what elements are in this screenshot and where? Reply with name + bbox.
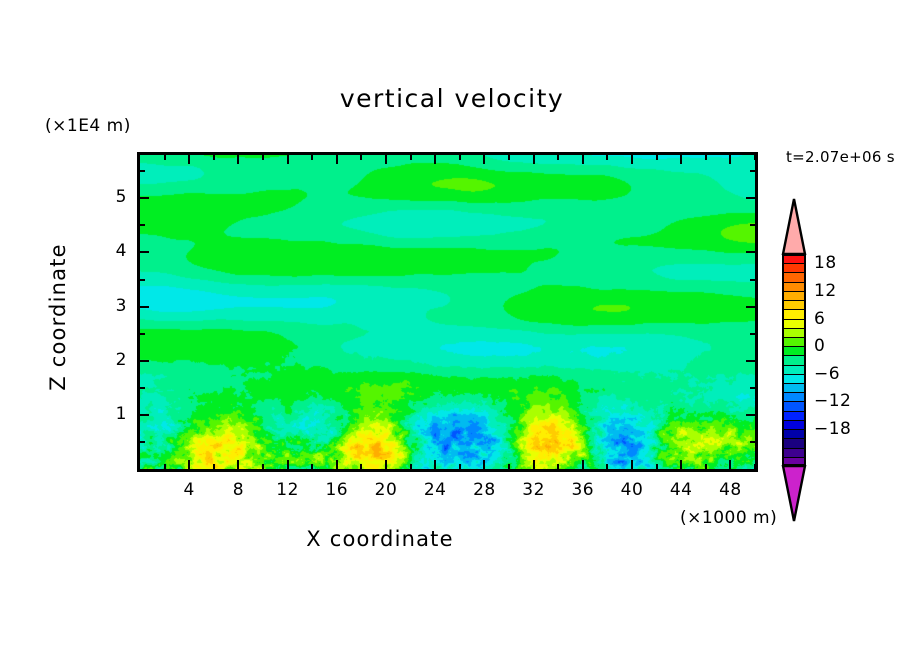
y-tick-label: 5: [97, 187, 127, 207]
colorbar-band-divider: [782, 346, 806, 347]
chart-title: vertical velocity: [0, 84, 904, 113]
x-tick-major: [287, 155, 289, 164]
x-tick-major: [237, 155, 239, 164]
x-tick-major: [582, 460, 584, 469]
x-tick-major: [631, 155, 633, 164]
x-tick-minor: [262, 155, 264, 160]
x-axis-unit-label: (×1000 m): [680, 508, 777, 528]
y-tick-label: 1: [97, 404, 127, 424]
x-tick-minor: [656, 464, 658, 469]
colorbar-band-divider: [782, 282, 806, 283]
y-tick-minor: [750, 441, 755, 443]
x-tick-major: [729, 460, 731, 469]
colorbar-band-divider: [782, 337, 806, 338]
x-tick-label: 24: [415, 480, 455, 500]
colorbar-band-divider: [782, 365, 806, 366]
x-tick-label: 44: [661, 480, 701, 500]
y-tick-minor: [140, 279, 145, 281]
x-tick-minor: [459, 155, 461, 160]
contour-field-canvas: [140, 155, 755, 469]
colorbar-band-divider: [782, 411, 806, 412]
y-tick-minor: [750, 170, 755, 172]
x-tick-minor: [164, 464, 166, 469]
colorbar-tick-label: 6: [814, 309, 825, 329]
x-tick-major: [533, 460, 535, 469]
colorbar-band-divider: [782, 401, 806, 402]
colorbar-tick-label: 12: [814, 281, 837, 301]
colorbar-tick-label: 0: [814, 336, 825, 356]
colorbar-band-divider: [782, 263, 806, 264]
y-tick-minor: [140, 441, 145, 443]
y-tick-minor: [750, 279, 755, 281]
contour-plot-area[interactable]: [137, 152, 758, 472]
x-tick-major: [680, 460, 682, 469]
x-tick-major: [631, 460, 633, 469]
colorbar-band-divider: [782, 429, 806, 430]
x-tick-label: 16: [317, 480, 357, 500]
x-tick-major: [385, 460, 387, 469]
colorbar-band-divider: [782, 328, 806, 329]
colorbar[interactable]: [782, 254, 806, 466]
x-tick-minor: [213, 464, 215, 469]
y-tick-major: [140, 306, 149, 308]
x-tick-minor: [754, 464, 756, 469]
y-tick-minor: [140, 224, 145, 226]
x-tick-major: [680, 155, 682, 164]
colorbar-band-divider: [782, 448, 806, 449]
x-tick-label: 4: [169, 480, 209, 500]
y-tick-major: [140, 251, 149, 253]
x-tick-label: 40: [612, 480, 652, 500]
colorbar-band-divider: [782, 374, 806, 375]
x-tick-minor: [557, 464, 559, 469]
y-tick-label: 3: [97, 296, 127, 316]
x-tick-major: [188, 460, 190, 469]
x-tick-minor: [557, 155, 559, 160]
x-tick-minor: [360, 464, 362, 469]
x-tick-minor: [606, 464, 608, 469]
y-axis-unit-label: (×1E4 m): [45, 116, 131, 136]
x-tick-major: [483, 155, 485, 164]
y-tick-major: [746, 414, 755, 416]
colorbar-over-arrow: [781, 197, 807, 255]
x-tick-label: 48: [710, 480, 750, 500]
x-tick-major: [533, 155, 535, 164]
x-tick-minor: [754, 155, 756, 160]
colorbar-band-divider: [782, 300, 806, 301]
colorbar-band-divider: [782, 291, 806, 292]
x-tick-label: 32: [514, 480, 554, 500]
y-tick-label: 2: [97, 350, 127, 370]
y-axis-title: Z coordinate: [46, 207, 70, 427]
colorbar-band-divider: [782, 457, 806, 458]
y-tick-major: [140, 414, 149, 416]
y-tick-major: [746, 251, 755, 253]
colorbar-band-divider: [782, 438, 806, 439]
colorbar-band-divider: [782, 355, 806, 356]
x-tick-major: [483, 460, 485, 469]
x-tick-label: 28: [464, 480, 504, 500]
y-tick-minor: [750, 224, 755, 226]
timestamp-annotation: t=2.07e+06 s: [786, 148, 895, 166]
x-tick-label: 20: [366, 480, 406, 500]
x-tick-major: [237, 460, 239, 469]
x-tick-minor: [213, 155, 215, 160]
x-tick-major: [434, 155, 436, 164]
x-tick-label: 12: [268, 480, 308, 500]
x-tick-major: [385, 155, 387, 164]
colorbar-band-divider: [782, 392, 806, 393]
x-tick-minor: [311, 155, 313, 160]
x-tick-minor: [606, 155, 608, 160]
x-tick-minor: [410, 155, 412, 160]
colorbar-tick-label: −6: [814, 364, 840, 384]
x-tick-major: [729, 155, 731, 164]
x-tick-major: [188, 155, 190, 164]
x-tick-minor: [508, 155, 510, 160]
y-tick-minor: [140, 170, 145, 172]
colorbar-band-divider: [782, 272, 806, 273]
y-tick-major: [746, 306, 755, 308]
x-tick-minor: [164, 155, 166, 160]
x-tick-major: [582, 155, 584, 164]
colorbar-band-divider: [782, 319, 806, 320]
y-tick-label: 4: [97, 241, 127, 261]
y-tick-minor: [750, 333, 755, 335]
y-tick-major: [746, 197, 755, 199]
x-tick-minor: [508, 464, 510, 469]
colorbar-band-divider: [782, 309, 806, 310]
x-axis-title: X coordinate: [0, 527, 760, 551]
x-tick-major: [336, 460, 338, 469]
x-tick-minor: [360, 155, 362, 160]
chart-title-text: vertical velocity: [340, 84, 564, 113]
y-tick-minor: [750, 387, 755, 389]
colorbar-band-divider: [782, 383, 806, 384]
colorbar-under-arrow: [781, 465, 807, 523]
x-tick-minor: [656, 155, 658, 160]
x-tick-major: [287, 460, 289, 469]
x-tick-major: [336, 155, 338, 164]
x-tick-minor: [410, 464, 412, 469]
x-tick-label: 8: [218, 480, 258, 500]
x-tick-minor: [262, 464, 264, 469]
x-tick-minor: [459, 464, 461, 469]
y-tick-minor: [140, 387, 145, 389]
colorbar-tick-label: −18: [814, 419, 851, 439]
y-tick-major: [746, 360, 755, 362]
colorbar-band-divider: [782, 420, 806, 421]
x-tick-label: 36: [563, 480, 603, 500]
y-tick-major: [140, 360, 149, 362]
x-tick-minor: [705, 155, 707, 160]
x-tick-minor: [311, 464, 313, 469]
colorbar-tick-label: 18: [814, 253, 837, 273]
y-tick-major: [140, 197, 149, 199]
x-tick-minor: [705, 464, 707, 469]
y-tick-minor: [140, 333, 145, 335]
colorbar-tick-label: −12: [814, 391, 851, 411]
x-tick-major: [434, 460, 436, 469]
